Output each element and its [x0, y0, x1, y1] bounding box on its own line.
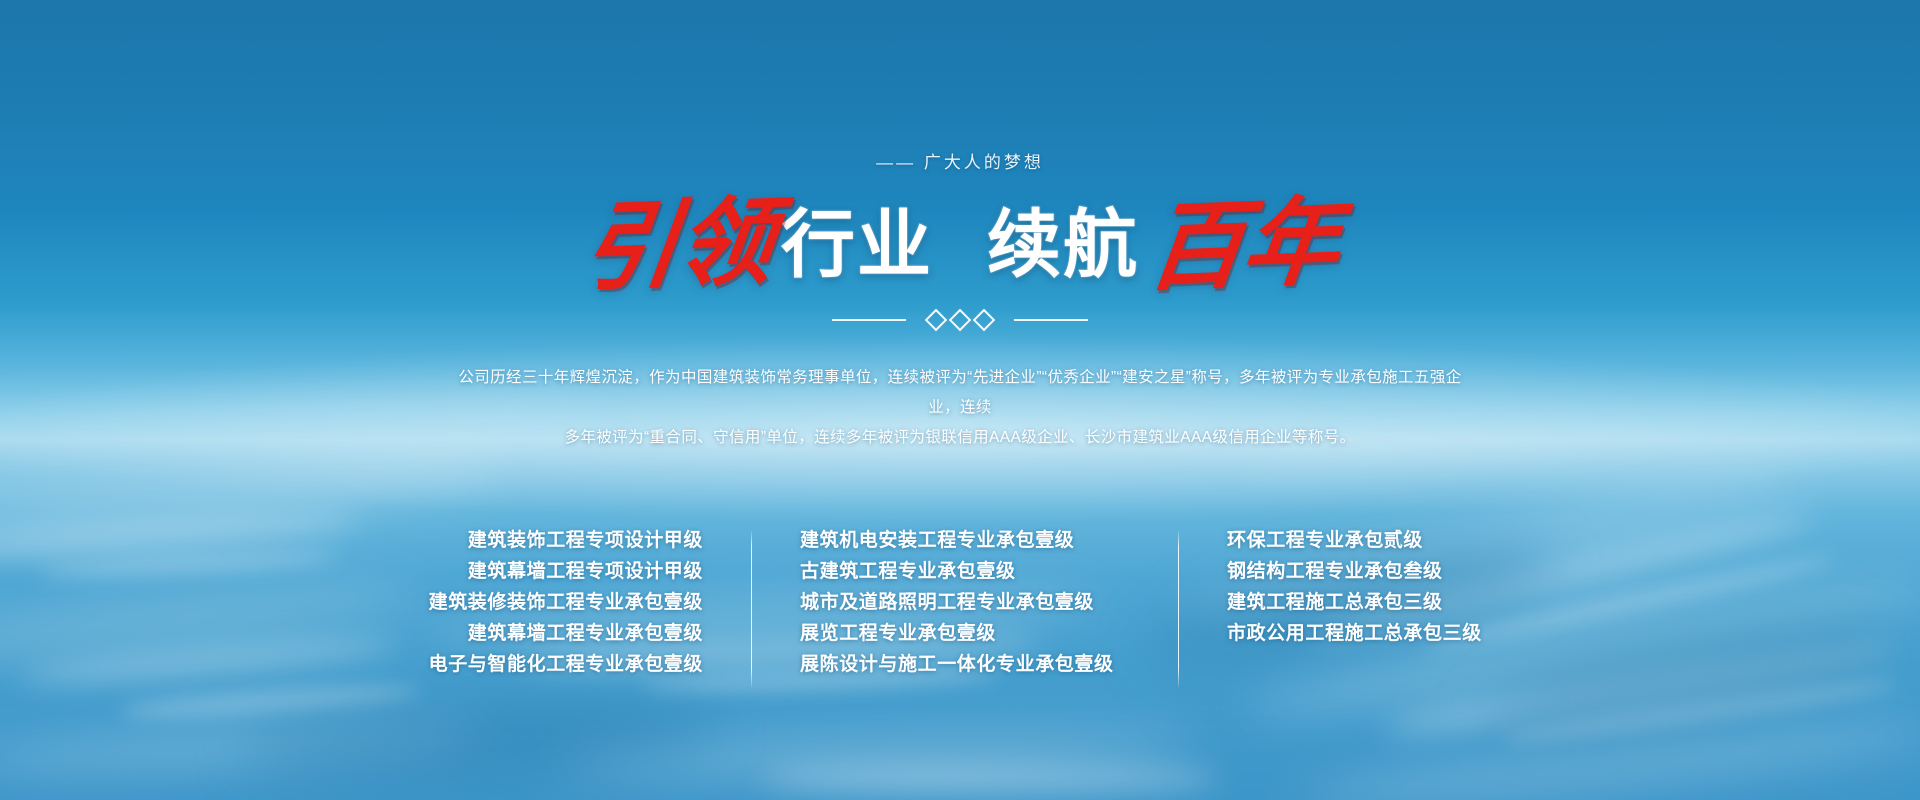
qualification-item: 环保工程专业承包贰级 — [1227, 525, 1517, 556]
qualification-item: 市政公用工程施工总承包三级 — [1227, 618, 1517, 649]
qualification-item: 钢结构工程专业承包叁级 — [1227, 556, 1517, 587]
headline-part-century-red: 百年 — [1143, 193, 1344, 296]
qualification-item: 建筑装修装饰工程专业承包壹级 — [403, 587, 703, 618]
qualification-item: 电子与智能化工程专业承包壹级 — [403, 649, 703, 680]
diamond-divider — [832, 307, 1088, 333]
headline-part-endurance-white: 续航 — [987, 208, 1139, 282]
qualification-column-2: 建筑机电安装工程专业承包壹级 古建筑工程专业承包壹级 城市及道路照明工程专业承包… — [800, 525, 1130, 680]
description-line-2: 多年被评为“重合同、守信用”单位，连续多年被评为银联信用AAA级企业、长沙市建筑… — [445, 423, 1475, 453]
qualification-column-3: 环保工程专业承包贰级 钢结构工程专业承包叁级 建筑工程施工总承包三级 市政公用工… — [1227, 525, 1517, 649]
qualification-item: 古建筑工程专业承包壹级 — [800, 556, 1130, 587]
qualification-item: 建筑幕墙工程专项设计甲级 — [403, 556, 703, 587]
description-line-1: 公司历经三十年辉煌沉淀，作为中国建筑装饰常务理事单位，连续被评为“先进企业”“优… — [445, 363, 1475, 423]
qualification-item: 建筑机电安装工程专业承包壹级 — [800, 525, 1130, 556]
column-divider-1 — [751, 531, 752, 687]
diamond-icon-1 — [925, 309, 948, 332]
divider-line-left — [832, 319, 906, 321]
hero-banner: —— 广大人的梦想 引领 行业 续航 百年 公司历经三十年辉煌沉淀，作为中国建筑… — [0, 0, 1920, 800]
headline-part-industry-white: 行业 — [781, 208, 933, 282]
diamond-icon-2 — [949, 309, 972, 332]
banner-subtitle: —— 广大人的梦想 — [876, 148, 1044, 173]
divider-line-right — [1014, 319, 1088, 321]
headline-part-lead-red: 引领 — [577, 193, 778, 296]
qualification-item: 展陈设计与施工一体化专业承包壹级 — [800, 649, 1130, 680]
banner-content: —— 广大人的梦想 引领 行业 续航 百年 公司历经三十年辉煌沉淀，作为中国建筑… — [0, 0, 1920, 800]
qualification-column-1: 建筑装饰工程专项设计甲级 建筑幕墙工程专项设计甲级 建筑装修装饰工程专业承包壹级… — [403, 525, 703, 680]
qualification-item: 建筑装饰工程专项设计甲级 — [403, 525, 703, 556]
qualification-item: 展览工程专业承包壹级 — [800, 618, 1130, 649]
qualification-item: 城市及道路照明工程专业承包壹级 — [800, 587, 1130, 618]
banner-headline: 引领 行业 续航 百年 — [583, 197, 1337, 293]
divider-diamonds — [918, 309, 1002, 331]
company-description: 公司历经三十年辉煌沉淀，作为中国建筑装饰常务理事单位，连续被评为“先进企业”“优… — [445, 363, 1475, 453]
diamond-icon-3 — [973, 309, 996, 332]
qualification-item: 建筑工程施工总承包三级 — [1227, 587, 1517, 618]
qualification-item: 建筑幕墙工程专业承包壹级 — [403, 618, 703, 649]
column-divider-2 — [1178, 531, 1179, 687]
qualification-columns: 建筑装饰工程专项设计甲级 建筑幕墙工程专项设计甲级 建筑装修装饰工程专业承包壹级… — [403, 525, 1517, 687]
